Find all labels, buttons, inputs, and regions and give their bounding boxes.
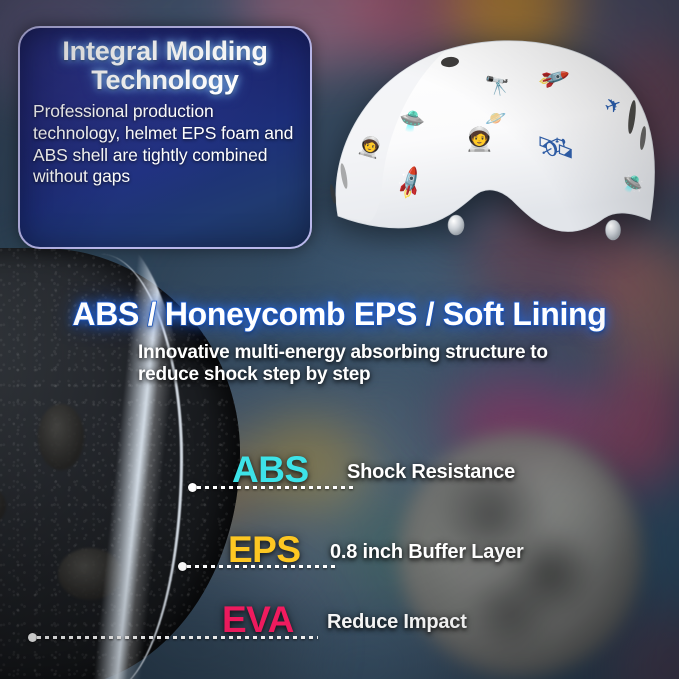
leader-line-eps xyxy=(178,562,337,571)
leader-dot-eps xyxy=(178,562,187,571)
callout-eps: EPS 0.8 inch Buffer Layer xyxy=(0,520,679,574)
sticker-astronaut-ball: 🧑‍🚀 xyxy=(465,128,494,151)
info-box-title-line2: Technology xyxy=(32,66,298,95)
leader-dot-eva xyxy=(28,633,37,642)
sticker-shuttle-small: 🛸 xyxy=(620,174,644,195)
layers-subtitle-line2: reduce shock step by step xyxy=(138,364,561,386)
leader-dash-abs xyxy=(197,486,353,489)
info-box-title: Integral Molding Technology xyxy=(32,37,298,94)
sticker-ufo-saucer: 🛸 xyxy=(399,110,426,133)
callout-abs-label: Shock Resistance xyxy=(347,462,515,482)
leader-dot-abs xyxy=(188,483,197,492)
leader-dash-eva xyxy=(37,636,318,639)
helmet-product-photo: 🔭 🚀 ✈ 🛸 🧑‍🚀 🪐 🧑‍🚀 🛰 🚀 🛸 xyxy=(300,20,679,270)
sticker-space-station: 🛰 xyxy=(536,132,575,163)
layers-headline: ABS / Honeycomb EPS / Soft Lining xyxy=(0,296,679,333)
leader-line-eva xyxy=(28,633,318,642)
info-box-body: Professional production technology, helm… xyxy=(33,101,297,188)
sticker-planet-balloon: 🪐 xyxy=(485,110,506,127)
leader-line-abs xyxy=(188,483,353,492)
integral-molding-info-box: Integral Molding Technology Professional… xyxy=(18,26,312,249)
layers-subtitle-line1: Innovative multi-energy absorbing struct… xyxy=(138,342,561,364)
leader-dash-eps xyxy=(187,565,337,568)
callout-eva-label: Reduce Impact xyxy=(327,612,467,632)
info-box-title-line1: Integral Molding xyxy=(32,37,298,66)
layers-subtitle: Innovative multi-energy absorbing struct… xyxy=(0,342,679,386)
callout-eps-label: 0.8 inch Buffer Layer xyxy=(330,542,524,562)
sticker-telescope: 🔭 xyxy=(484,74,512,98)
product-infographic: 🔭 🚀 ✈ 🛸 🧑‍🚀 🪐 🧑‍🚀 🛰 🚀 🛸 Integral Molding… xyxy=(0,0,679,679)
